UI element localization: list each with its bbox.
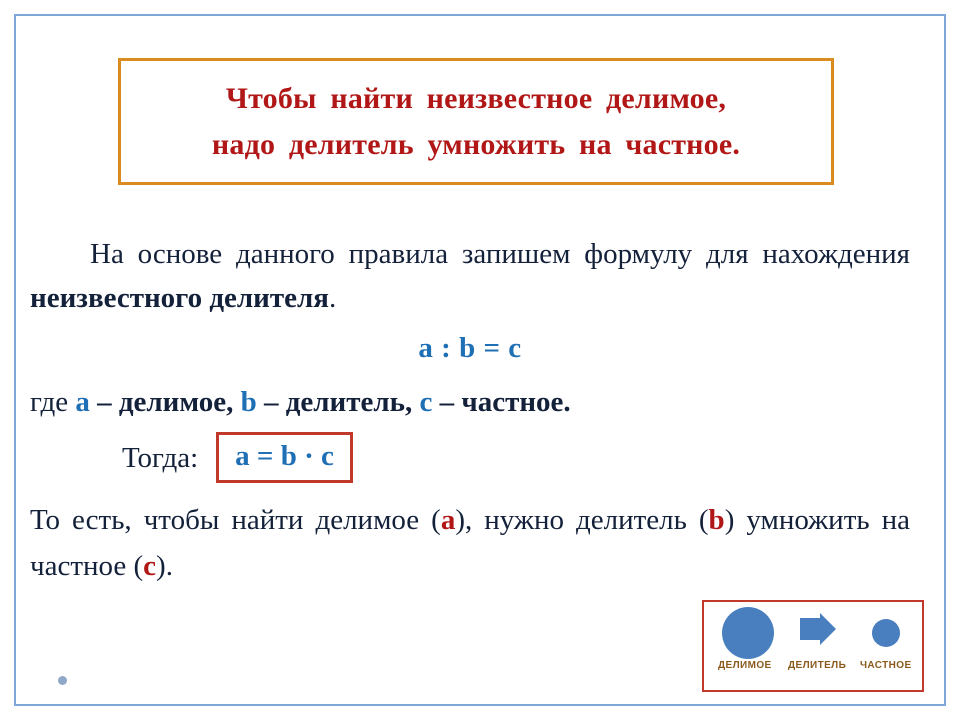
var-b: b	[241, 386, 257, 418]
var-b-desc: – делитель,	[257, 386, 420, 418]
where-prefix: где	[30, 386, 75, 418]
formula-boxed: a = b · c	[216, 432, 353, 483]
intro-text-1: На основе данного правила запишем формул…	[90, 238, 910, 270]
legend-label-quotient: ЧАСТНОЕ	[860, 660, 912, 671]
conclusion-var-b: b	[709, 504, 725, 536]
body-text: На основе данного правила запишем формул…	[30, 232, 910, 589]
legend-labels: ДЕЛИМОЕ ДЕЛИТЕЛЬ ЧАСТНОЕ	[704, 660, 922, 682]
arrow-divisor-icon	[800, 618, 822, 640]
circle-dividend-icon	[722, 607, 774, 659]
bullet-marker	[58, 676, 67, 685]
conclusion-var-a: a	[441, 504, 456, 536]
conclusion-text-1: То есть, чтобы найти делимое (	[30, 504, 441, 536]
conclusion-text-2: ), нужно делитель (	[455, 504, 708, 536]
legend-box: ДЕЛИМОЕ ДЕЛИТЕЛЬ ЧАСТНОЕ	[702, 600, 924, 692]
arrow-head-icon	[820, 613, 836, 645]
intro-paragraph: На основе данного правила запишем формул…	[30, 232, 910, 320]
var-a-desc: – делимое,	[90, 386, 241, 418]
then-label: Тогда:	[122, 436, 198, 480]
intro-text-bold: неизвестного делителя	[30, 282, 329, 314]
legend-label-dividend: ДЕЛИМОЕ	[718, 660, 772, 671]
then-row: Тогда: a = b · c	[30, 432, 910, 483]
legend-label-divisor: ДЕЛИТЕЛЬ	[788, 660, 846, 671]
var-c: c	[419, 386, 432, 418]
circle-quotient-icon	[872, 619, 900, 647]
var-c-desc: – частное.	[432, 386, 570, 418]
rule-box: Чтобы найти неизвестное делимое, надо де…	[118, 58, 834, 185]
rule-line-1: Чтобы найти неизвестное делимое,	[226, 76, 726, 122]
var-a: a	[75, 386, 90, 418]
rule-line-2: надо делитель умножить на частное.	[212, 122, 740, 168]
slide: Чтобы найти неизвестное делимое, надо де…	[0, 0, 960, 720]
intro-text-end: .	[329, 282, 336, 314]
legend-shapes	[704, 602, 922, 660]
conclusion-text-4: ).	[156, 550, 173, 582]
where-line: где a – делимое, b – делитель, c – частн…	[30, 380, 910, 424]
conclusion-var-c: c	[143, 550, 156, 582]
formula-division: a : b = c	[30, 326, 910, 370]
conclusion-paragraph: То есть, чтобы найти делимое (a), нужно …	[30, 497, 910, 589]
